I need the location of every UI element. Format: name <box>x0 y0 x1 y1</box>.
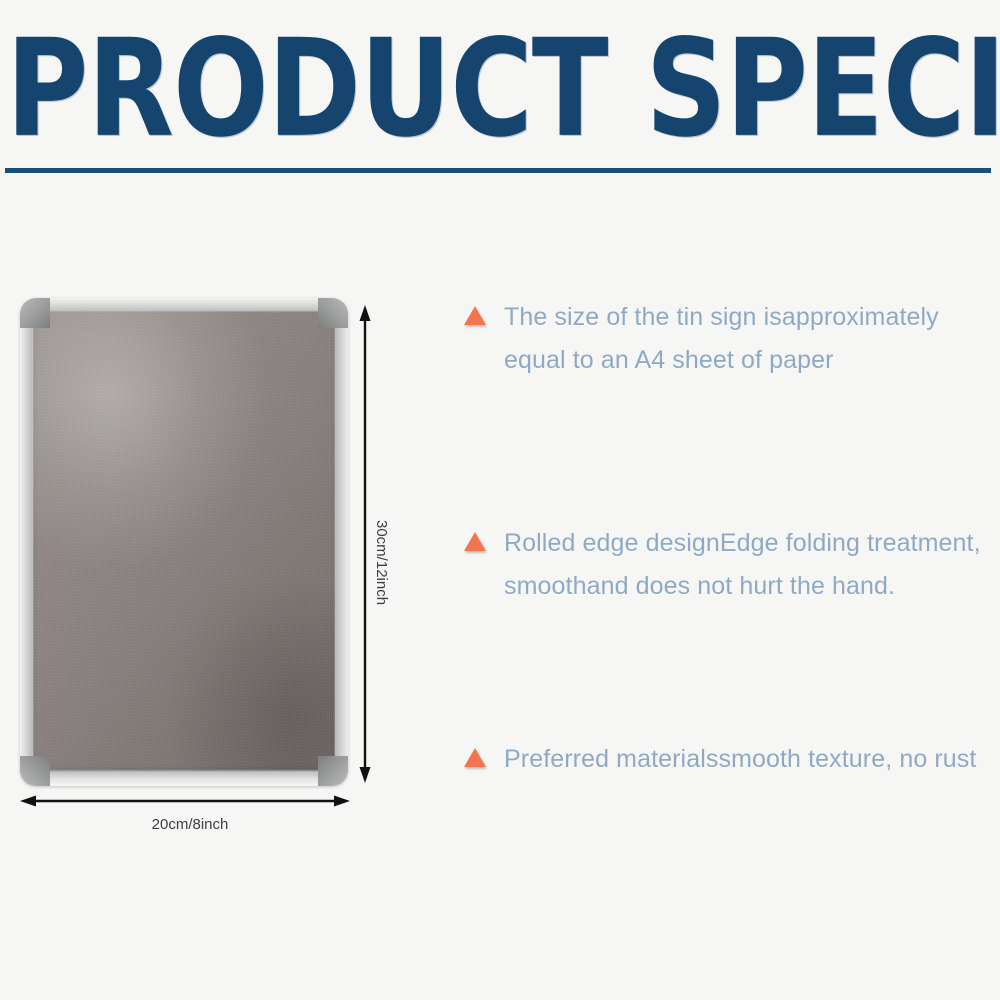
double-arrow-horizontal-icon <box>20 788 350 814</box>
metal-plate <box>20 298 348 786</box>
rolled-edge-frame <box>20 298 348 786</box>
page-title: PRODUCT SPECIFICATION <box>6 14 990 144</box>
feature-text: The size of the tin sign isapproximately… <box>504 303 939 374</box>
triangle-bullet-icon <box>464 532 486 551</box>
corner-cap-bottom-left <box>20 756 50 786</box>
feature-item: Preferred materialssmooth texture, no ru… <box>462 738 990 781</box>
product-image <box>20 298 348 786</box>
page-title-text: PRODUCT SPECIFICATION <box>6 14 1000 162</box>
width-dimension-label: 20cm/8inch <box>90 816 290 833</box>
corner-cap-top-left <box>20 298 50 328</box>
corner-cap-bottom-right <box>318 756 348 786</box>
corner-cap-top-right <box>318 298 348 328</box>
product-specification-page: PRODUCT SPECIFICATION 30cm/12inch <box>0 0 1000 1000</box>
feature-list: The size of the tin sign isapproximately… <box>462 296 990 781</box>
feature-text: Rolled edge designEdge folding treatment… <box>504 529 981 600</box>
header: PRODUCT SPECIFICATION <box>0 0 1000 185</box>
feature-item: Rolled edge designEdge folding treatment… <box>462 522 990 608</box>
title-divider-rule <box>5 168 991 173</box>
height-dimension-label: 30cm/12inch <box>370 520 392 640</box>
triangle-bullet-icon <box>464 306 486 325</box>
width-dimension-arrow <box>20 788 350 814</box>
triangle-bullet-icon <box>464 748 486 767</box>
feature-item: The size of the tin sign isapproximately… <box>462 296 990 382</box>
feature-text: Preferred materialssmooth texture, no ru… <box>504 745 976 773</box>
